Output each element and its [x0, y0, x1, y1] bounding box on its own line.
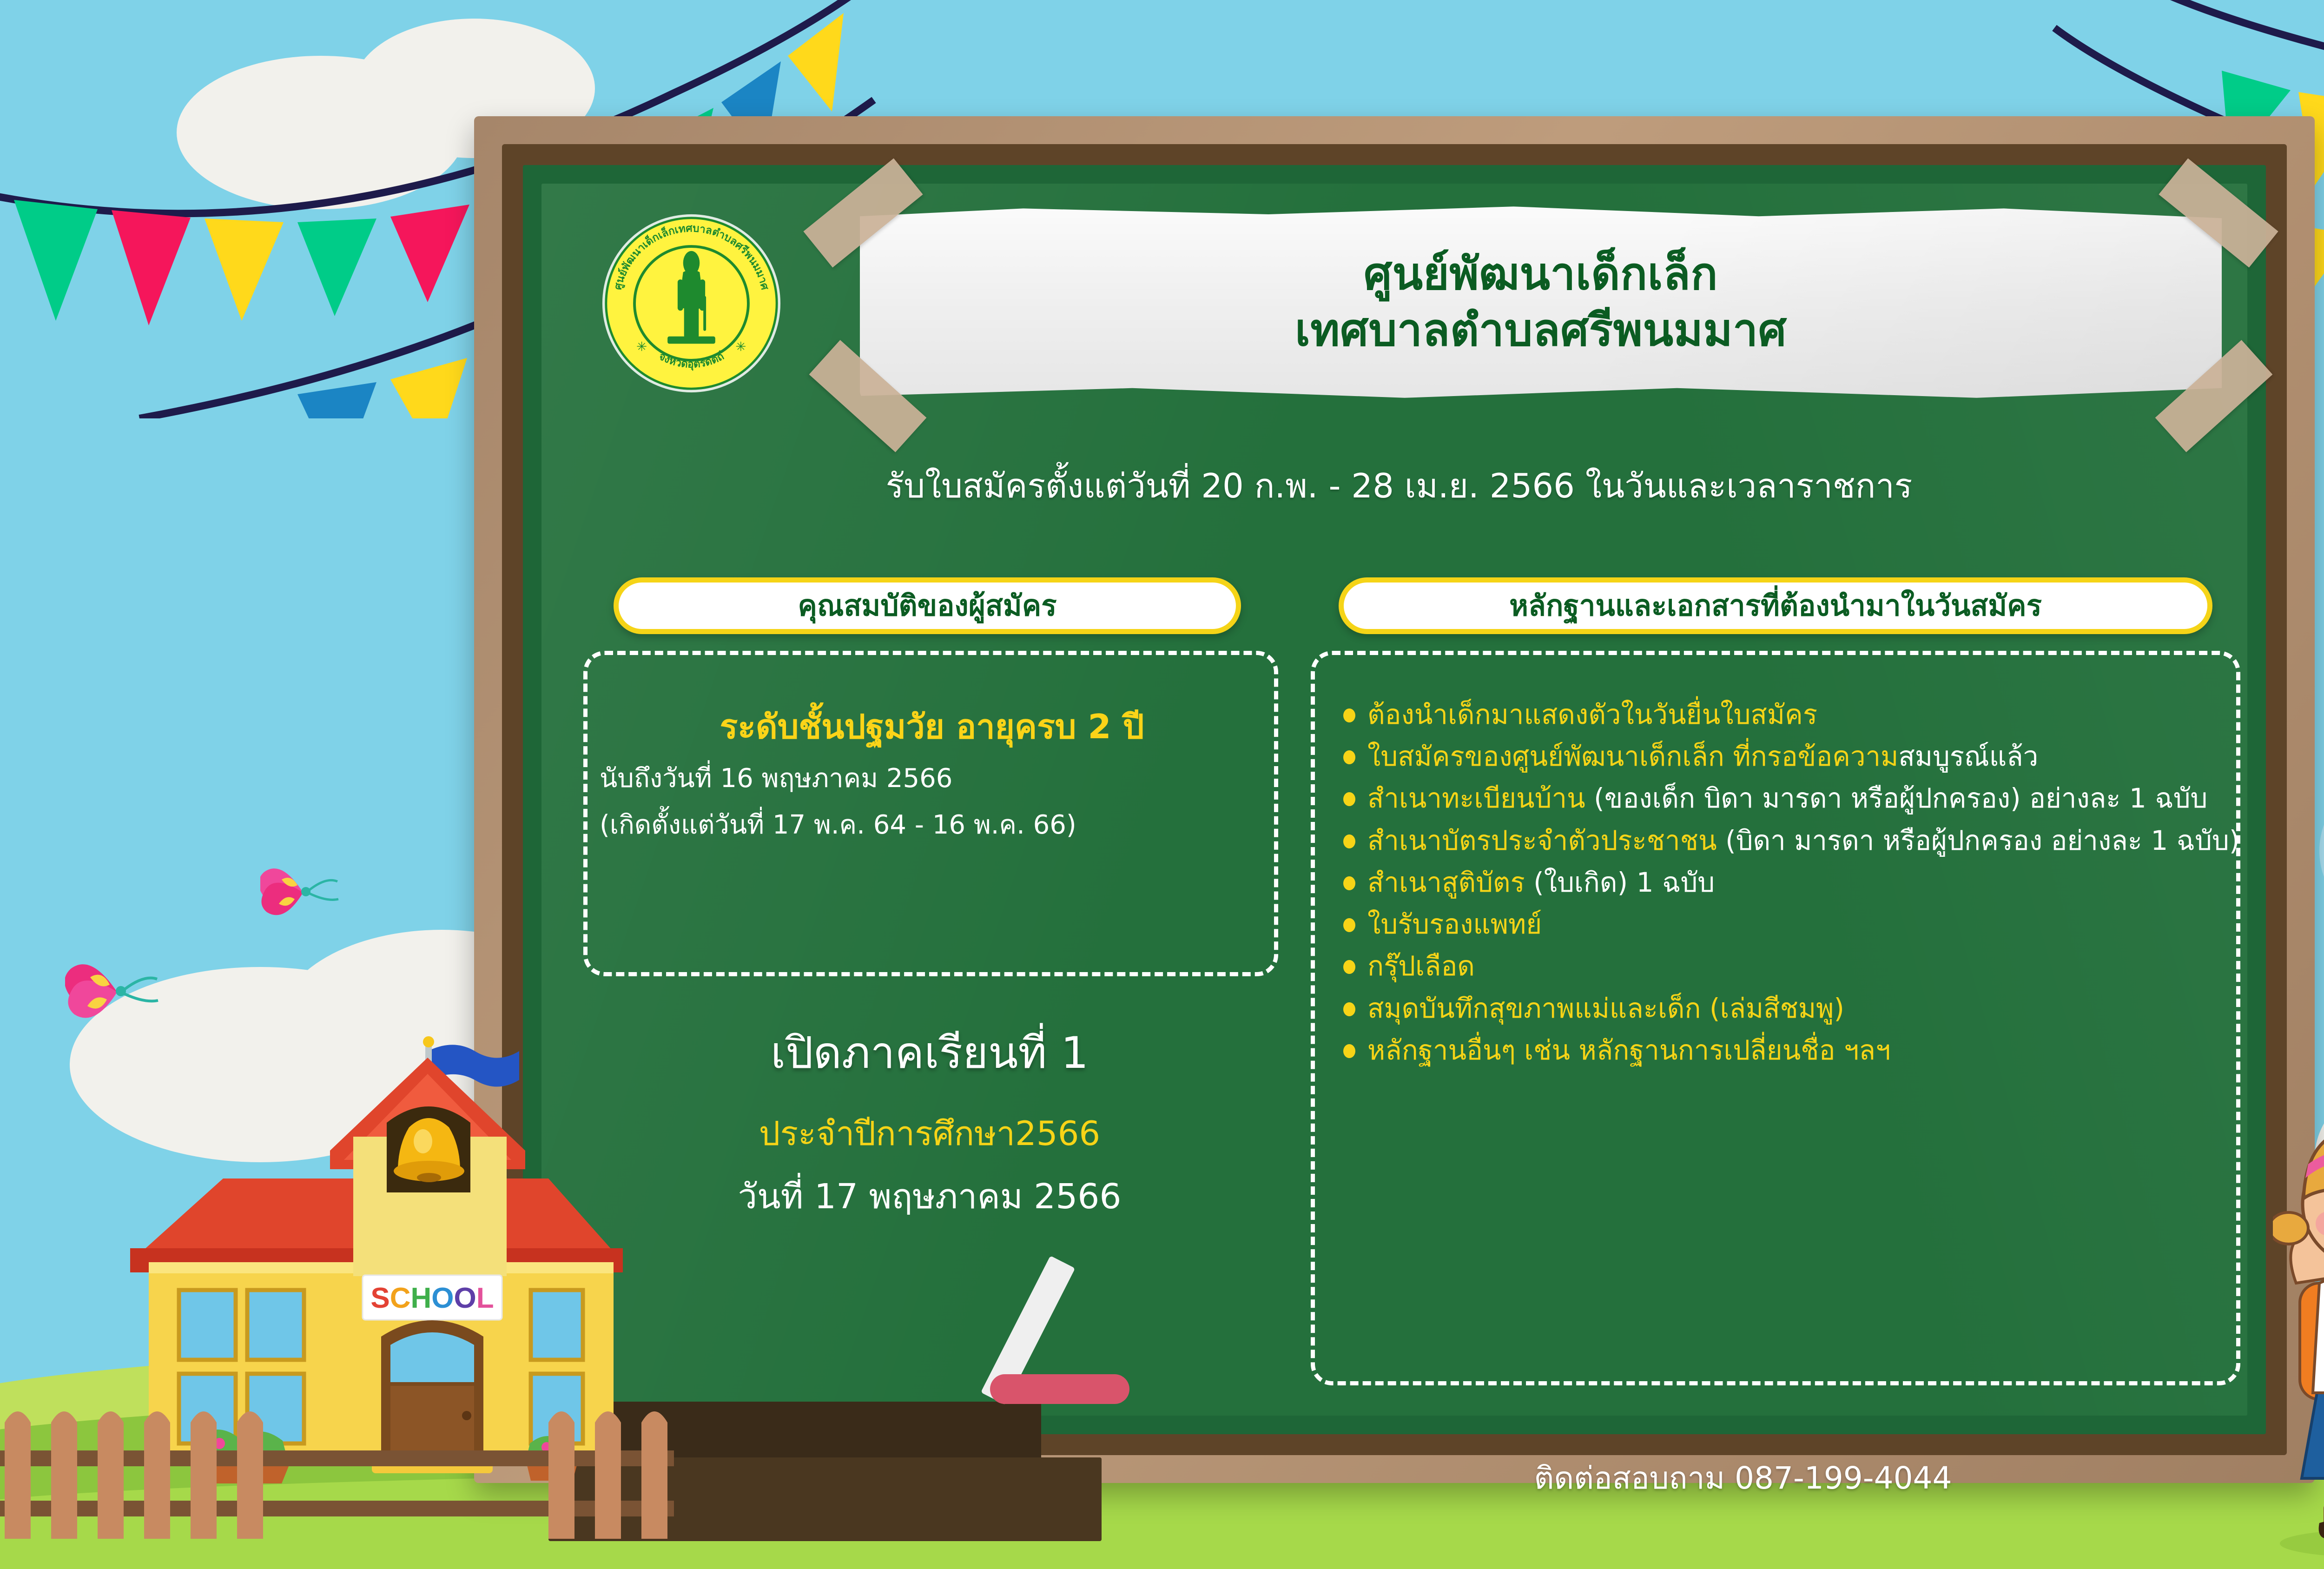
title-line-1: ศูนย์พัฒนาเด็กเล็ก — [1364, 247, 1718, 301]
documents-list: ต้องนำเด็กมาแสดงตัวในวันยื่นใบสมัครใบสมั… — [1343, 697, 2240, 1075]
bullet-dot-icon — [1343, 1002, 1355, 1016]
bullet-dot-icon — [1343, 876, 1355, 890]
school-sign-text: SCHOOL — [370, 1282, 494, 1314]
bullet-dot-icon — [1343, 1044, 1355, 1058]
bullet-dot-icon — [1343, 918, 1355, 932]
list-item: สำเนาทะเบียนบ้าน (ของเด็ก บิดา มารดา หรื… — [1343, 781, 2240, 815]
bullet-dot-icon — [1343, 708, 1355, 722]
term-opening-title: เปิดภาคเรียนที่ 1 — [581, 1027, 1278, 1080]
list-item-rest: (ใบเกิด) 1 ฉบับ — [1533, 867, 1715, 898]
qualifications-header-pill: คุณสมบัติของผู้สมัคร — [614, 577, 1241, 634]
bullet-dot-icon — [1343, 960, 1355, 974]
list-item-label: สำเนาบัตรประจำตัวประชาชน (บิดา มารดา หรื… — [1367, 823, 2239, 858]
opening-date-line: วันที่ 17 พฤษภาคม 2566 — [581, 1176, 1278, 1218]
list-item-lead: ใบรับรองแพทย์ — [1367, 908, 1542, 940]
list-item-label: ใบรับรองแพทย์ — [1367, 907, 1542, 941]
list-item-label: ใบสมัครของศูนย์พัฒนาเด็กเล็ก ที่กรอข้อคว… — [1367, 739, 2038, 774]
list-item-label: กรุ๊ปเลือด — [1367, 949, 1475, 983]
list-item-label: สำเนาทะเบียนบ้าน (ของเด็ก บิดา มารดา หรื… — [1367, 781, 2207, 815]
list-item-label: หลักฐานอื่นๆ เช่น หลักฐานการเปลี่ยนชื่อ … — [1367, 1033, 1891, 1067]
municipality-seal-logo: ศูนย์พัฒนาเด็กเล็กเทศบาลตำบลศรีพนมมาศ จั… — [600, 212, 783, 395]
list-item-lead: กรุ๊ปเลือด — [1367, 950, 1475, 982]
list-item-lead: สำเนาบัตรประจำตัวประชาชน — [1367, 825, 1725, 856]
list-item-label: สมุดบันทึกสุขภาพแม่และเด็ก (เล่มสีชมพู) — [1367, 991, 1844, 1026]
title-banner: ศูนย์พัฒนาเด็กเล็ก เทศบาลตำบลศรีพนมมาศ — [860, 205, 2222, 400]
list-item: ใบสมัครของศูนย์พัฒนาเด็กเล็ก ที่กรอข้อคว… — [1343, 739, 2240, 774]
title-line-2: เทศบาลตำบลศรีพนมมาศ — [1295, 303, 1787, 357]
list-item: หลักฐานอื่นๆ เช่น หลักฐานการเปลี่ยนชื่อ … — [1343, 1033, 2240, 1067]
banner-text-block: ศูนย์พัฒนาเด็กเล็ก เทศบาลตำบลศรีพนมมาศ — [860, 205, 2222, 400]
academic-year-line: ประจำปีการศึกษา2566 — [581, 1113, 1278, 1153]
qualification-cutoff-line: นับถึงวันที่ 16 พฤษภาคม 2566 — [600, 762, 1260, 795]
list-item: ต้องนำเด็กมาแสดงตัวในวันยื่นใบสมัคร — [1343, 697, 2240, 732]
list-item-lead: หลักฐานอื่นๆ เช่น หลักฐานการเปลี่ยนชื่อ … — [1367, 1034, 1891, 1066]
documents-header-label: หลักฐานและเอกสารที่ต้องนำมาในวันสมัคร — [1509, 591, 2042, 620]
contact-line: ติดต่อสอบถาม 087-199-4044 — [1348, 1460, 2138, 1496]
seal-star-icon: ✳ — [636, 339, 647, 354]
list-item-lead: ใบสมัครของศูนย์พัฒนาเด็กเล็ก ที่กรอข้อคว… — [1367, 741, 1898, 772]
bullet-dot-icon — [1343, 834, 1355, 848]
list-item: ใบรับรองแพทย์ — [1343, 907, 2240, 941]
list-item-rest: สมบูรณ์แล้ว — [1898, 741, 2038, 772]
qualifications-header-label: คุณสมบัติของผู้สมัคร — [798, 591, 1056, 620]
list-item-label: สำเนาสูติบัตร (ใบเกิด) 1 ฉบับ — [1367, 865, 1715, 900]
documents-header-pill: หลักฐานและเอกสารที่ต้องนำมาในวันสมัคร — [1339, 577, 2212, 634]
list-item-lead: สมุดบันทึกสุขภาพแม่และเด็ก (เล่มสีชมพู) — [1367, 993, 1844, 1024]
list-item-lead: สำเนาทะเบียนบ้าน — [1367, 782, 1594, 814]
picket-fence — [0, 1390, 674, 1543]
list-item: กรุ๊ปเลือด — [1343, 949, 2240, 983]
butterfly-icon — [260, 855, 349, 930]
seal-star-icon: ✳ — [735, 339, 746, 354]
list-item: สำเนาสูติบัตร (ใบเกิด) 1 ฉบับ — [1343, 865, 2240, 900]
eraser — [990, 1374, 1129, 1404]
bullet-dot-icon — [1343, 750, 1355, 764]
list-item: สมุดบันทึกสุขภาพแม่และเด็ก (เล่มสีชมพู) — [1343, 991, 2240, 1026]
list-item-rest: (บิดา มารดา หรือผู้ปกครอง อย่างละ 1 ฉบับ… — [1725, 825, 2239, 856]
butterfly-icon — [65, 948, 172, 1037]
qualification-age-line: ระดับชั้นปฐมวัย อายุครบ 2 ปี — [604, 707, 1260, 747]
bullet-dot-icon — [1343, 792, 1355, 806]
list-item-lead: สำเนาสูติบัตร — [1367, 867, 1533, 898]
list-item-lead: ต้องนำเด็กมาแสดงตัวในวันยื่นใบสมัคร — [1367, 699, 1817, 730]
qualification-birthrange-line: (เกิดตั้งแต่วันที่ 17 พ.ค. 64 - 16 พ.ค. … — [600, 809, 1274, 841]
list-item: สำเนาบัตรประจำตัวประชาชน (บิดา มารดา หรื… — [1343, 823, 2240, 858]
application-period-text: รับใบสมัครตั้งแต่วันที่ 20 ก.พ. - 28 เม.… — [604, 465, 2194, 507]
students-illustration — [2273, 1065, 2324, 1569]
list-item-rest: (ของเด็ก บิดา มารดา หรือผู้ปกครอง) อย่าง… — [1594, 782, 2207, 814]
poster-canvas: ศูนย์พัฒนาเด็กเล็กเทศบาลตำบลศรีพนมมาศ จั… — [0, 0, 2324, 1569]
list-item-label: ต้องนำเด็กมาแสดงตัวในวันยื่นใบสมัคร — [1367, 697, 1817, 732]
